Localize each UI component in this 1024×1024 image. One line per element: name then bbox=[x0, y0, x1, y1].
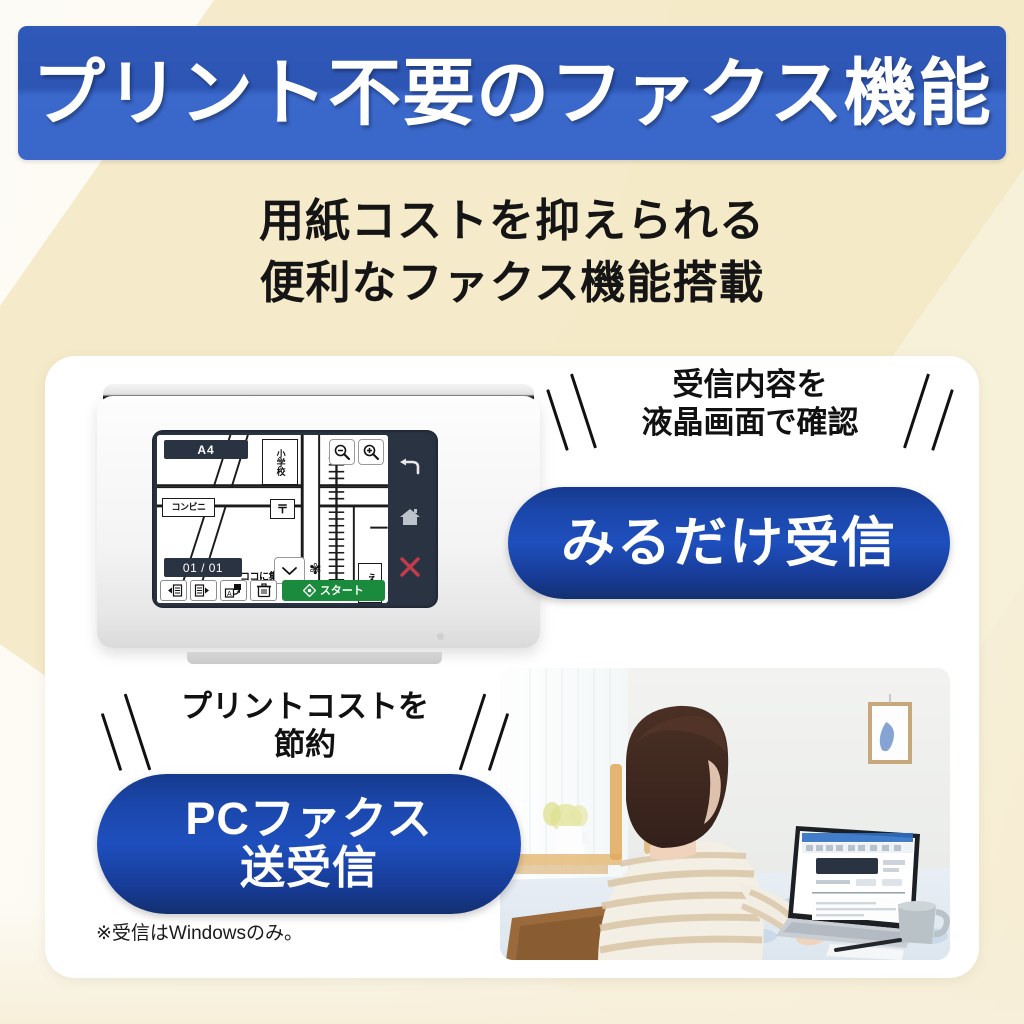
subtitle-line-1: 用紙コストを抑えられる bbox=[0, 190, 1024, 252]
previous-page-icon[interactable] bbox=[160, 580, 187, 601]
footnote-windows-only: ※受信はWindowsのみ。 bbox=[96, 918, 303, 945]
lcd-screen[interactable]: 小学校 コンビニ 〒 えき ココに集合! ✾ A4 01 / 01 bbox=[157, 435, 388, 603]
map-label-school: 小学校 bbox=[262, 439, 298, 485]
feature-pill-view-only-reception[interactable]: みるだけ受信 bbox=[508, 487, 950, 599]
cancel-button[interactable] bbox=[399, 556, 421, 578]
printer-illustration: 小学校 コンビニ 〒 えき ココに集合! ✾ A4 01 / 01 bbox=[97, 384, 540, 656]
callout-bottom: プリントコストを 節約 bbox=[100, 688, 510, 764]
page-counter-badge: 01 / 01 bbox=[164, 558, 242, 577]
back-button[interactable] bbox=[398, 458, 422, 478]
subtitle-line-2: 便利なファクス機能搭載 bbox=[0, 252, 1024, 314]
feature-pill-pc-fax-line-1: PCファクス bbox=[185, 795, 432, 844]
start-button[interactable]: スタート bbox=[282, 580, 385, 601]
close-icon bbox=[399, 556, 421, 578]
printer-indicator-dot bbox=[437, 633, 444, 640]
home-button[interactable] bbox=[399, 507, 421, 527]
callout-top: 受信内容を 液晶画面で確認 bbox=[540, 366, 960, 442]
page-title: プリント不要のファクス機能 bbox=[32, 57, 992, 130]
delete-trash-icon[interactable] bbox=[250, 580, 277, 601]
feature-pill-view-only-label: みるだけ受信 bbox=[561, 514, 897, 572]
lcd-toolbar: A bbox=[157, 579, 388, 603]
header-banner: プリント不要のファクス機能 bbox=[18, 26, 1006, 160]
callout-bottom-line-2: 節約 bbox=[100, 726, 510, 764]
flower-icon: ✾ bbox=[309, 562, 322, 577]
map-label-post-office: 〒 bbox=[270, 499, 295, 519]
home-icon bbox=[399, 507, 421, 527]
woman-using-laptop-photo bbox=[500, 668, 950, 960]
printer-paper-tray bbox=[187, 652, 442, 664]
feature-pill-pc-fax[interactable]: PCファクス 送受信 bbox=[97, 774, 521, 914]
start-diamond-icon bbox=[303, 584, 316, 597]
lifestyle-photo bbox=[500, 668, 950, 960]
paper-size-badge: A4 bbox=[164, 440, 248, 459]
lcd-side-buttons bbox=[388, 435, 433, 603]
zoom-out-icon[interactable] bbox=[329, 439, 355, 465]
map-label-convenience-store: コンビニ bbox=[162, 498, 215, 517]
callout-bottom-line-1: プリントコストを bbox=[100, 688, 510, 726]
next-page-icon[interactable] bbox=[190, 580, 217, 601]
feature-pill-pc-fax-line-2: 送受信 bbox=[185, 844, 432, 893]
rotate-orientation-icon[interactable]: A bbox=[220, 580, 247, 601]
svg-text:A: A bbox=[227, 591, 232, 598]
zoom-in-icon[interactable] bbox=[358, 439, 384, 465]
back-arrow-icon bbox=[398, 458, 422, 478]
callout-top-line-2: 液晶画面で確認 bbox=[540, 404, 960, 442]
callout-top-line-1: 受信内容を bbox=[540, 366, 960, 404]
subtitle-block: 用紙コストを抑えられる 便利なファクス機能搭載 bbox=[0, 190, 1024, 313]
printer-lcd-panel[interactable]: 小学校 コンビニ 〒 えき ココに集合! ✾ A4 01 / 01 bbox=[152, 430, 438, 608]
start-button-label: スタート bbox=[320, 582, 364, 598]
